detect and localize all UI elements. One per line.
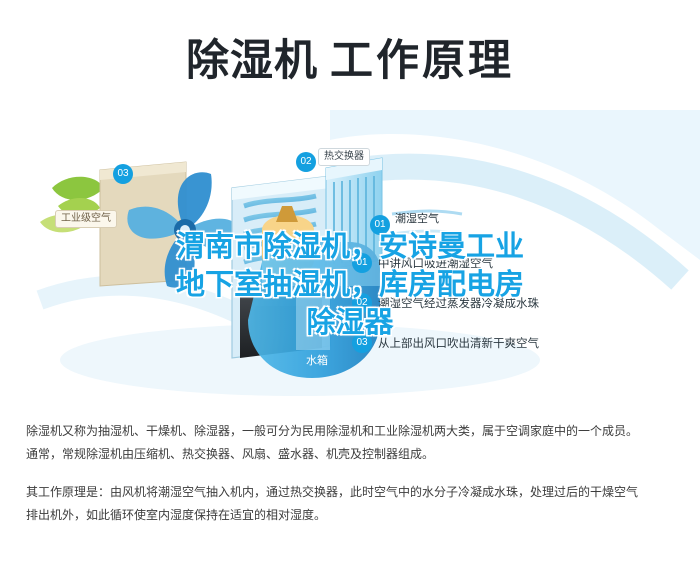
paragraph-principle: 其工作原理是：由风机将潮湿空气抽入机内，通过热交换器，此时空气中的水分子冷凝成水… xyxy=(26,481,678,527)
callout-text-02: 潮湿空气经过蒸发器冷凝成水珠 xyxy=(378,295,539,311)
label-wet-air: 潮湿空气 xyxy=(390,211,444,227)
callout-text-01: 中讲风口吸进潮湿空气 xyxy=(378,255,493,271)
page-title-sub: 工作原理 xyxy=(330,38,514,85)
paragraph-definition: 除湿机又称为抽湿机、干燥机、除湿器，一般可分为民用除湿机和工业除湿机两大类，属于… xyxy=(26,420,678,466)
page-root: 除湿机工作原理 xyxy=(0,0,700,566)
page-title-main: 除湿机 xyxy=(186,37,318,85)
callout-badge-03: 03 xyxy=(352,333,372,353)
badge-02: 02 xyxy=(296,152,316,172)
label-dry-air: 工业级空气 xyxy=(55,210,117,228)
label-heat-exchanger: 热交换器 xyxy=(318,148,370,166)
paragraph-principle-line-1: 其工作原理是：由风机将潮湿空气抽入机内，通过热交换器，此时空气中的水分子冷凝成水… xyxy=(26,481,678,504)
callout-text-03: 从上部出风口吹出清新干爽空气 xyxy=(378,335,539,351)
label-water-tank: 水箱 xyxy=(301,353,333,369)
badge-01: 01 xyxy=(370,215,390,235)
badge-03: 03 xyxy=(113,164,133,184)
callout-badge-01: 01 xyxy=(352,253,372,273)
paragraph-principle-line-2: 排出机外，如此循环使室内湿度保持在适宜的相对湿度。 xyxy=(26,504,678,527)
page-title: 除湿机工作原理 xyxy=(0,26,700,88)
dehumidifier-diagram: 01 02 03 01 02 03 热交换器 工业级空气 潮湿空气 水箱 中讲风… xyxy=(0,110,700,410)
paragraph-definition-line-2: 通常，常规除湿机由压缩机、热交换器、风扇、盛水器、机壳及控制器组成。 xyxy=(26,443,678,466)
paragraph-definition-line-1: 除湿机又称为抽湿机、干燥机、除湿器，一般可分为民用除湿机和工业除湿机两大类，属于… xyxy=(26,420,678,443)
callout-badge-02: 02 xyxy=(352,293,372,313)
